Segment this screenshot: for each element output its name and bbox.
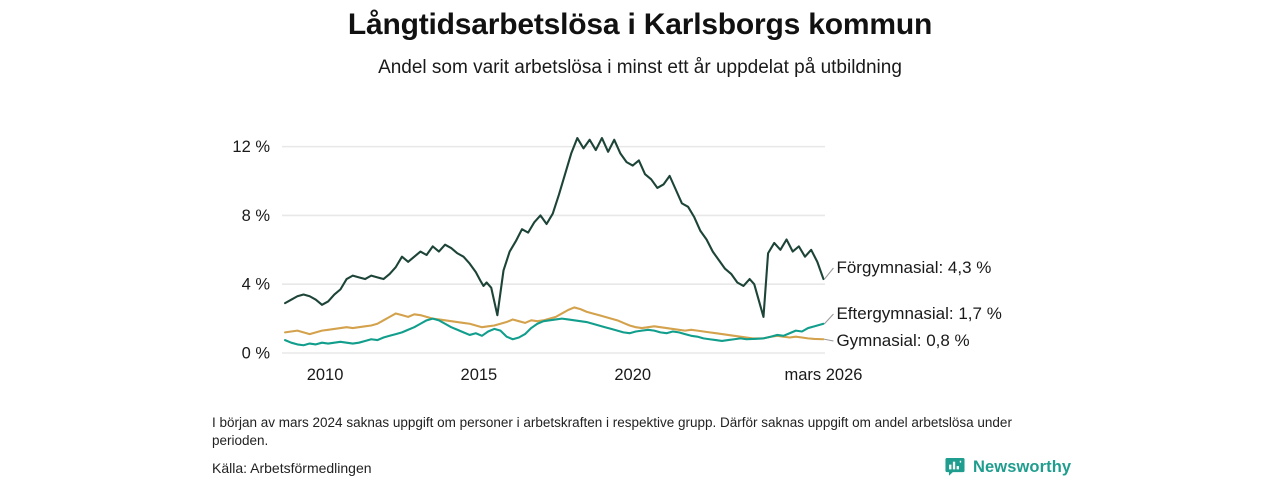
y-tick-label: 12 % [232, 138, 270, 156]
chart-card: Långtidsarbetslösa i Karlsborgs kommun A… [0, 0, 1280, 480]
bar-chart-icon [944, 456, 966, 478]
series-label-eftergymnasial: Eftergymnasial: 1,7 % [836, 304, 1001, 323]
logo-wordmark: Newsworthy [973, 458, 1071, 477]
series-label-förgymnasial: Förgymnasial: 4,3 % [836, 258, 991, 277]
x-tick-label: mars 2026 [784, 366, 862, 384]
y-tick-label: 8 % [242, 207, 271, 225]
line-chart-svg: 0 %4 %8 %12 % 201020152020mars 2026 Förg… [0, 100, 1280, 400]
x-tick-label: 2015 [461, 366, 498, 384]
source-note: Källa: Arbetsförmedlingen [212, 460, 372, 476]
y-tick-label: 4 % [242, 276, 271, 294]
chart-footnote: I början av mars 2024 saknas uppgift om … [212, 414, 1042, 450]
leader-line [824, 339, 833, 341]
series-line-eftergymnasial [285, 319, 823, 346]
series-leader-lines [824, 268, 833, 341]
x-tick-label: 2020 [614, 366, 651, 384]
newsworthy-logo[interactable]: Newsworthy [944, 456, 1071, 478]
page-title: Långtidsarbetslösa i Karlsborgs kommun [0, 8, 1280, 42]
leader-line [824, 268, 833, 279]
series-line-gymnasial [285, 307, 823, 339]
x-axis-tick-labels: 201020152020mars 2026 [307, 366, 863, 384]
series-labels: Förgymnasial: 4,3 %Gymnasial: 0,8 %Efter… [836, 258, 1001, 350]
leader-line [824, 314, 833, 324]
y-axis-tick-labels: 0 %4 %8 %12 % [232, 138, 270, 362]
x-tick-label: 2010 [307, 366, 344, 384]
gridlines [282, 147, 825, 353]
data-series [285, 138, 823, 345]
series-label-gymnasial: Gymnasial: 0,8 % [836, 331, 969, 350]
y-tick-label: 0 % [242, 345, 271, 363]
series-line-förgymnasial [285, 138, 823, 317]
chart-plot-area: 0 %4 %8 %12 % 201020152020mars 2026 Förg… [0, 100, 1280, 400]
chart-subtitle: Andel som varit arbetslösa i minst ett å… [0, 57, 1280, 79]
